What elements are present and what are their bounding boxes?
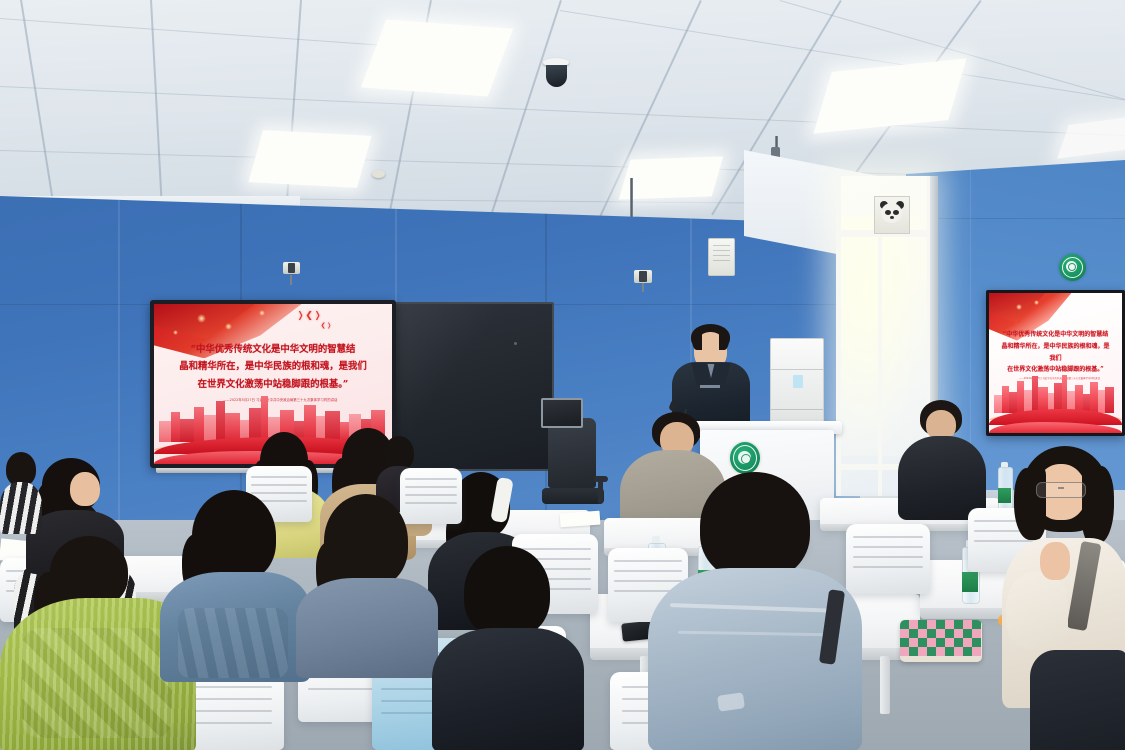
sweater-cable-pattern xyxy=(22,628,172,738)
audience-member xyxy=(1030,650,1125,750)
eyeglasses-bridge xyxy=(1058,487,1064,489)
smoke-detector-icon xyxy=(372,170,385,178)
white-wall-unit xyxy=(708,238,735,276)
slide-quote-secondary: “中华优秀传统文化是中华文明的智慧结 晶和精华所在，是中华民族的根和魂，是我们 … xyxy=(1001,329,1110,376)
wall-speaker-right-icon xyxy=(634,270,652,288)
ceiling-light xyxy=(1057,115,1125,158)
slide-content-secondary: “中华优秀传统文化是中华文明的智慧结 晶和精华所在，是中华民族的根和魂，是我们 … xyxy=(989,293,1122,433)
slide-quote: “中华优秀传统文化是中华文明的智慧结 晶和精华所在，是中华民族的根和魂，是我们 … xyxy=(175,341,370,393)
ceiling-light xyxy=(813,58,966,133)
monitor-small xyxy=(541,398,583,428)
ceiling-light xyxy=(248,130,371,188)
dove-graphic: ❮❭ xyxy=(321,323,333,329)
skyline-graphic-secondary xyxy=(989,371,1122,413)
papers xyxy=(560,511,601,528)
panda-picture xyxy=(874,196,910,234)
ceiling-light xyxy=(361,20,513,97)
eyeglasses-icon xyxy=(1036,482,1086,498)
school-emblem-wall xyxy=(1059,254,1086,281)
audience-member xyxy=(648,472,860,750)
audience-member xyxy=(898,400,984,518)
desk-leg xyxy=(880,656,890,714)
audience-member xyxy=(432,546,582,750)
audience-member xyxy=(296,494,436,674)
wall-speaker-left-icon xyxy=(283,262,300,279)
audience-member xyxy=(0,452,40,532)
checkered-bag xyxy=(900,620,982,662)
school-emblem-podium xyxy=(730,442,760,474)
secondary-monitor[interactable]: “中华优秀传统文化是中华文明的智慧结 晶和精华所在，是中华民族的根和魂，是我们 … xyxy=(986,290,1125,436)
ceiling-light xyxy=(619,156,724,199)
meeting-room-photo: ❭❮❭ ❮❭ “中华优秀传统文化是中华文明的智慧结 晶和精华所在，是中华民族的根… xyxy=(0,0,1125,750)
dove-graphic: ❭❮❭ xyxy=(297,312,323,321)
shirt-fold xyxy=(178,608,288,678)
audience-member xyxy=(160,490,308,676)
hand xyxy=(1040,542,1070,580)
